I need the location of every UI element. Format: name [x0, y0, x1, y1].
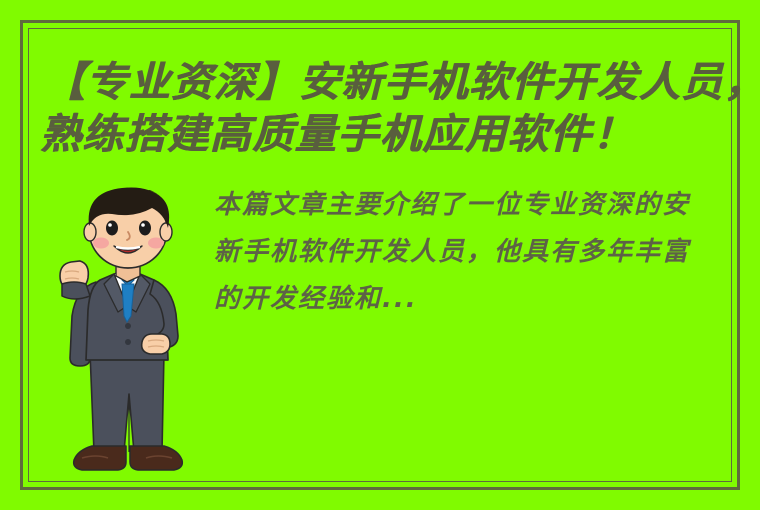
- body-line-2: 新手机软件开发人员，他具有多年丰富: [214, 229, 724, 276]
- body-line-1: 本篇文章主要介绍了一位专业资深的安: [214, 182, 724, 229]
- title-block: 【专业资深】安新手机软件开发人员， 熟练搭建高质量手机应用软件！: [44, 56, 724, 160]
- body-text-block: 本篇文章主要介绍了一位专业资深的安 新手机软件开发人员，他具有多年丰富 的开发经…: [214, 182, 724, 323]
- body-line-3: 的开发经验和...: [214, 276, 724, 323]
- title-line-1: 【专业资深】安新手机软件开发人员，: [44, 56, 724, 108]
- businessman-illustration: [52, 184, 202, 486]
- banner-root: 【专业资深】安新手机软件开发人员， 熟练搭建高质量手机应用软件！ 本篇文章主要介…: [0, 0, 760, 510]
- title-line-2: 熟练搭建高质量手机应用软件！: [40, 108, 724, 160]
